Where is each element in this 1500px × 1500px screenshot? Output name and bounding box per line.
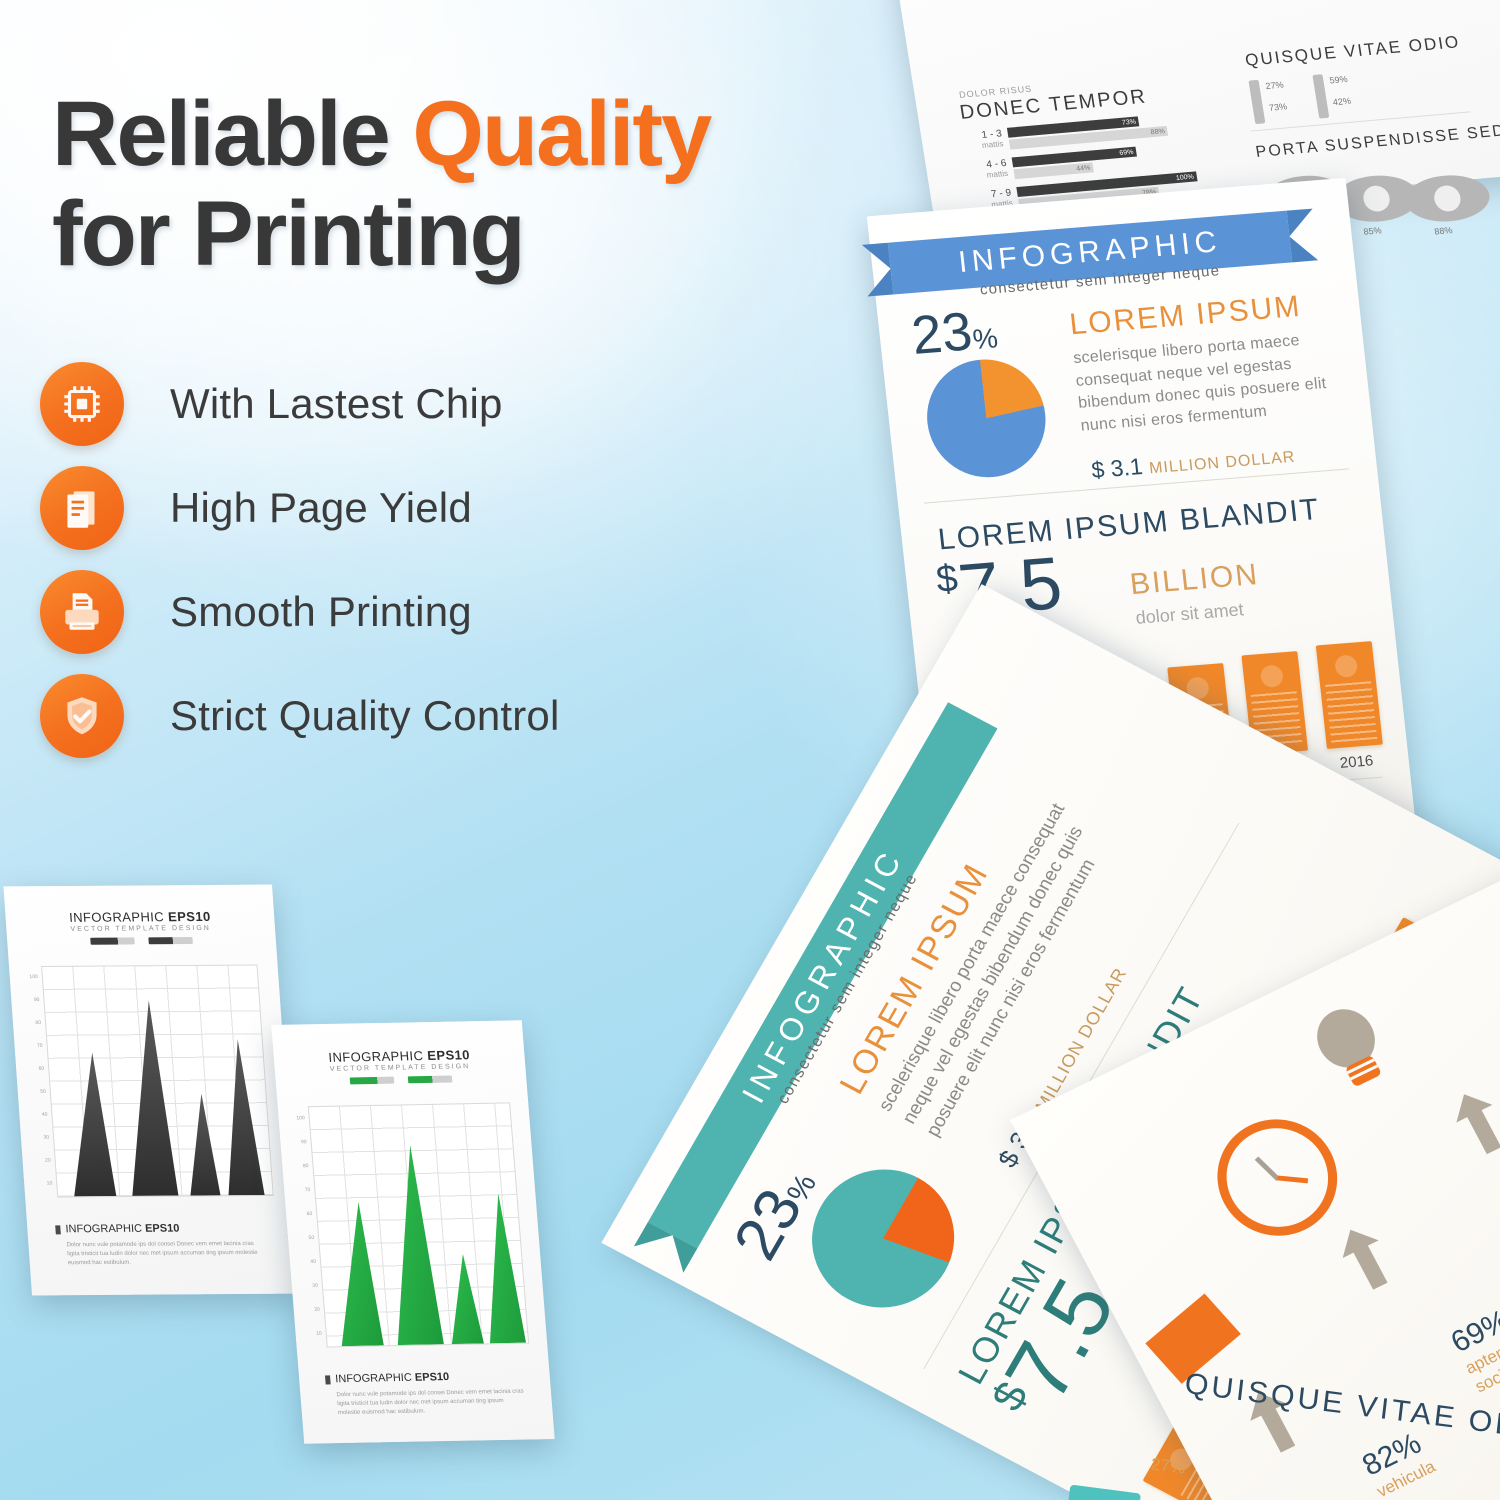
big-unit: BILLION — [1128, 558, 1260, 602]
foot-title: INFOGRAPHIC EPS10 — [335, 1371, 450, 1385]
area-chart-plot — [41, 965, 274, 1198]
shield-check-icon — [40, 674, 124, 758]
sheet-legend — [7, 936, 276, 945]
gs-bottle-value: 73% — [1268, 101, 1288, 112]
gs-bottle-value: 27% — [1265, 80, 1285, 91]
year-cell: 2016 — [1316, 641, 1386, 773]
million-stat: $ 3.1 MILLION DOLLAR — [1090, 441, 1296, 484]
legend-pill — [90, 937, 135, 944]
feature-label: Smooth Printing — [170, 588, 472, 636]
lorem-body: scelerisque libero porta maece consequat… — [1072, 327, 1351, 439]
sheet-subtitle: VECTOR TEMPLATE DESIGN — [6, 924, 275, 933]
foot-marker — [55, 1225, 61, 1234]
arrow-up-icon — [1443, 1084, 1500, 1161]
gs-bottle-icon — [1248, 80, 1265, 124]
lightbulb-icon — [1299, 993, 1407, 1108]
big-sub: dolor sit amet — [1135, 599, 1245, 629]
feature-label: With Lastest Chip — [170, 380, 503, 428]
legend-pill — [408, 1076, 453, 1084]
page-title: Reliable Quality for Printing — [52, 84, 952, 285]
feature-label: High Page Yield — [170, 484, 472, 532]
year-label: 2016 — [1339, 752, 1374, 772]
year-bar — [1316, 641, 1383, 749]
headline-line1-part1: Reliable — [52, 83, 412, 185]
gray-chart-sheet: INFOGRAPHIC EPS10 VECTOR TEMPLATE DESIGN… — [3, 885, 300, 1296]
document-icon — [40, 466, 124, 550]
bottle-value-27: 27% — [1150, 1454, 1187, 1479]
gs-bottle-value: 42% — [1332, 96, 1352, 107]
legend-pill — [148, 937, 193, 944]
feature-item-chip: With Lastest Chip — [40, 352, 720, 456]
gs-porta-heading: PORTA SUSPENDISSE SED — [1255, 122, 1500, 162]
poster-canvas: Reliable Quality for Printing With Laste… — [0, 0, 1500, 1500]
percent-stat: 23% — [909, 298, 1000, 366]
foot-marker — [325, 1375, 331, 1384]
feature-item-smooth-printing: Smooth Printing — [40, 560, 720, 664]
headline-line1-accent: Quality — [412, 83, 710, 185]
chip-icon — [40, 362, 124, 446]
pie-chart — [786, 1145, 980, 1332]
sheet-title: INFOGRAPHIC EPS10 — [5, 909, 275, 926]
feature-item-page-yield: High Page Yield — [40, 456, 720, 560]
foot-body: Dolor nunc vule potamode ips dol consei … — [66, 1240, 268, 1268]
feature-item-quality-control: Strict Quality Control — [40, 664, 720, 768]
area-chart-plot — [308, 1102, 529, 1347]
quisque-heading: QUISQUE VITAE ODIO — [1183, 1367, 1500, 1448]
gs-bottle-icon — [1312, 74, 1329, 118]
foot-title: INFOGRAPHIC EPS10 — [65, 1223, 180, 1236]
gs-oval-value: 88% — [1434, 225, 1454, 236]
feature-label: Strict Quality Control — [170, 692, 560, 740]
sheet-legend — [276, 1074, 527, 1086]
green-chart-sheet: INFOGRAPHIC EPS10 VECTOR TEMPLATE DESIGN… — [271, 1020, 554, 1444]
arrow-up-icon — [1330, 1220, 1401, 1297]
clock-icon — [1197, 1100, 1359, 1256]
pie-chart — [921, 355, 1051, 482]
feature-list: With Lastest Chip High Page Yield — [40, 352, 720, 768]
gs-oval-value: 85% — [1363, 225, 1383, 236]
legend-pill — [350, 1077, 395, 1085]
printer-icon — [40, 570, 124, 654]
headline-line2: for Printing — [52, 183, 524, 285]
foot-body: Dolor nunc vule potamode ips dol consei … — [336, 1388, 528, 1419]
gs-bottle-value: 59% — [1329, 74, 1349, 85]
gs-quisque-heading: QUISQUE VITAE ODIO — [1244, 32, 1462, 71]
